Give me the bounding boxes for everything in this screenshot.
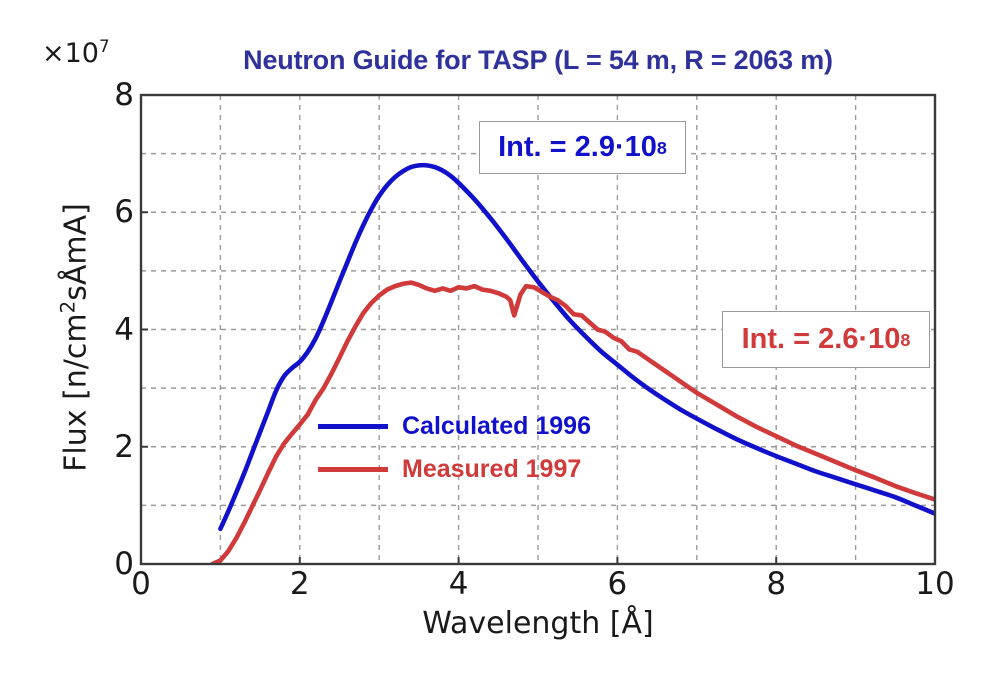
x-tick-label: 0: [131, 566, 151, 602]
y-axis-title-exponent: 2: [57, 301, 80, 314]
chart-figure: ×107 Neutron Guide for TASP (L = 54 m, R…: [0, 0, 993, 675]
y-tick-label: 4: [114, 312, 134, 348]
y-axis-title-suffix: sÅmA]: [59, 203, 94, 301]
legend-label-measured: Measured 1997: [402, 455, 581, 484]
legend-label-calculated: Calculated 1996: [402, 412, 591, 441]
x-tick-label: 4: [449, 566, 469, 602]
x-tick-label: 2: [290, 566, 310, 602]
annotation-measured-text: Int. = 2.6·10: [742, 323, 901, 356]
x-tick-label: 8: [766, 566, 786, 602]
y-tick-label: 2: [114, 429, 134, 465]
y-axis-title-prefix: Flux [n/cm: [59, 313, 94, 471]
annotation-measured-integral: Int. = 2.6·108: [722, 311, 930, 368]
annotation-calculated-integral: Int. = 2.9·108: [479, 121, 686, 174]
x-tick-label: 10: [915, 566, 954, 602]
legend-swatch-calculated-icon: [318, 424, 388, 429]
y-tick-label: 0: [114, 546, 134, 582]
x-axis-title: Wavelength [Å]: [141, 606, 935, 641]
legend-item-calculated: Calculated 1996: [318, 405, 618, 448]
y-axis-title: Flux [n/cm2sÅmA]: [59, 128, 94, 548]
y-tick-label: 6: [114, 194, 134, 230]
chart-legend: Calculated 1996 Measured 1997: [318, 405, 618, 491]
y-tick-label: 8: [114, 77, 134, 113]
legend-swatch-measured-icon: [318, 467, 388, 472]
legend-item-measured: Measured 1997: [318, 448, 618, 491]
x-tick-label: 6: [608, 566, 628, 602]
annotation-calculated-text: Int. = 2.9·10: [498, 131, 657, 164]
